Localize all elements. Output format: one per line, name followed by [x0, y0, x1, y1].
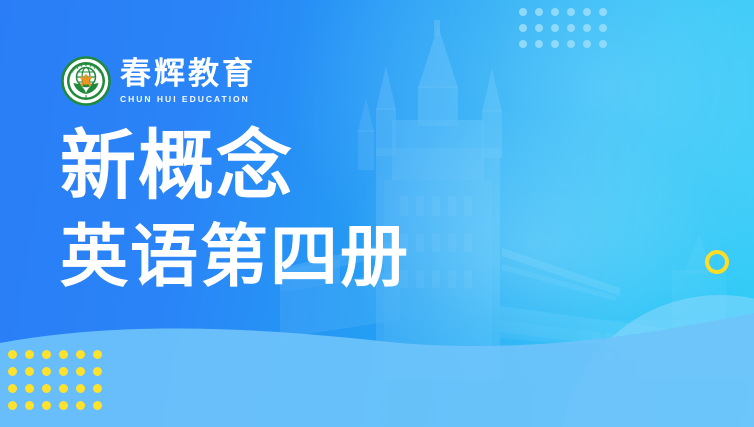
course-banner: 春辉教育 CHUN HUI EDUCATION 新概念 英语第四册: [0, 0, 754, 427]
brand-name-cn: 春辉教育: [120, 58, 256, 91]
headline-line-2: 英语第四册: [60, 224, 410, 292]
brand-logo: 春辉教育 CHUN HUI EDUCATION: [61, 56, 256, 106]
large-circle-decoration: [560, 295, 754, 427]
circle-outline-decoration-icon: [705, 250, 729, 274]
headline-line-1: 新概念: [60, 128, 410, 204]
brand-logo-text: 春辉教育 CHUN HUI EDUCATION: [120, 58, 256, 105]
chunhui-globe-emblem-icon: [61, 56, 111, 106]
wave-shape-decoration: [0, 287, 754, 427]
brand-name-en: CHUN HUI EDUCATION: [120, 94, 256, 104]
banner-headline: 新概念 英语第四册: [60, 128, 410, 292]
